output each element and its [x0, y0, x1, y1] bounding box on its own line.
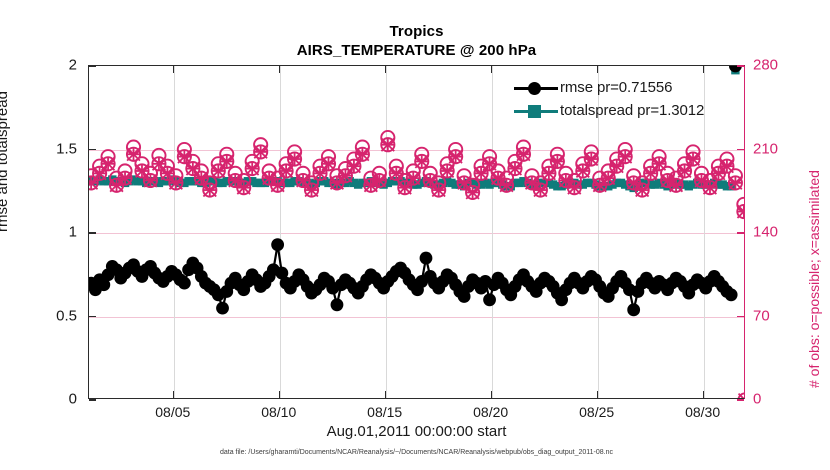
- obs-assimilated-marker: [348, 160, 361, 173]
- chart-subtitle: AIRS_TEMPERATURE @ 200 hPa: [88, 41, 745, 61]
- obs-assimilated-marker: [271, 179, 284, 192]
- obs-assimilated-marker: [305, 184, 318, 197]
- x-tick-bottom: [703, 391, 704, 398]
- rmse-marker: [627, 303, 640, 316]
- y-tick-right: [737, 232, 744, 233]
- legend-marker-totalspread: [528, 105, 541, 118]
- x-tick-label: 08/20: [473, 404, 508, 420]
- obs-assimilated-marker: [280, 165, 293, 178]
- legend-swatch-rmse: [512, 78, 560, 98]
- x-tick-top: [279, 66, 280, 73]
- obs-assimilated-marker: [466, 186, 479, 199]
- chart-title: Tropics: [88, 22, 745, 41]
- rmse-marker: [216, 302, 229, 315]
- obs-assimilated-marker: [585, 153, 598, 166]
- obs-assimilated-marker: [356, 148, 369, 161]
- legend-item-totalspread: totalspread pr=1.3012: [512, 99, 740, 122]
- obs-assimilated-marker: [288, 153, 301, 166]
- x-tick-bottom: [491, 391, 492, 398]
- y-tick-left: [89, 232, 96, 233]
- obs-assimilated-marker: [322, 157, 335, 170]
- x-tick-top: [173, 66, 174, 73]
- chart-figure: Tropics AIRS_TEMPERATURE @ 200 hPa rmse …: [0, 0, 830, 470]
- x-tick-bottom: [597, 391, 598, 398]
- y-axis-right-title: # of obs: o=possible; x=assimilated: [806, 170, 822, 388]
- y-tick-left: [89, 399, 96, 400]
- x-tick-top: [491, 66, 492, 73]
- obs-assimilated-marker: [169, 177, 182, 190]
- obs-assimilated-marker: [670, 179, 683, 192]
- y-tick-right: [737, 399, 744, 400]
- rmse-marker: [729, 66, 742, 72]
- x-tick-label: 08/25: [579, 404, 614, 420]
- x-tick-bottom: [279, 391, 280, 398]
- obs-assimilated-marker: [509, 162, 522, 175]
- obs-assimilated-marker: [526, 177, 539, 190]
- obs-assimilated-marker: [619, 150, 632, 163]
- y-tick-left: [89, 65, 96, 66]
- obs-assimilated-marker: [119, 172, 132, 185]
- y-tick-label-right: 210: [753, 140, 778, 157]
- obs-assimilated-marker: [551, 155, 564, 168]
- obs-assimilated-marker: [390, 167, 403, 180]
- rmse-marker: [271, 238, 284, 251]
- rmse-marker: [483, 293, 496, 306]
- obs-assimilated-marker: [263, 172, 276, 185]
- obs-assimilated-marker: [627, 177, 640, 190]
- obs-assimilated-marker: [721, 160, 734, 173]
- x-tick-bottom: [385, 391, 386, 398]
- x-tick-label: 08/30: [685, 404, 720, 420]
- obs-assimilated-marker: [678, 165, 691, 178]
- legend-label-rmse: rmse pr=0.71556: [560, 79, 672, 96]
- y-tick-left: [89, 149, 96, 150]
- obs-assimilated-marker: [559, 174, 572, 187]
- obs-assimilated-marker: [500, 179, 513, 192]
- obs-assimilated-marker: [729, 177, 742, 190]
- obs-assimilated-marker: [695, 174, 708, 187]
- x-tick-label: 08/15: [367, 404, 402, 420]
- obs-assimilated-marker: [246, 162, 259, 175]
- obs-assimilated-marker: [237, 181, 250, 194]
- y-tick-right: [737, 65, 744, 66]
- obs-assimilated-marker: [492, 172, 505, 185]
- obs-assimilated-marker: [576, 165, 589, 178]
- obs-assimilated-marker: [229, 174, 242, 187]
- x-tick-top: [385, 66, 386, 73]
- obs-assimilated-marker: [543, 167, 556, 180]
- y-tick-left: [89, 316, 96, 317]
- rmse-marker: [331, 298, 344, 311]
- obs-assimilated-marker: [102, 157, 115, 170]
- obs-assimilated-marker: [220, 155, 233, 168]
- obs-assimilated-marker: [203, 184, 216, 197]
- obs-assimilated-marker: [636, 184, 649, 197]
- obs-assimilated-marker: [704, 181, 717, 194]
- x-tick-top: [703, 66, 704, 73]
- obs-assimilated-marker: [712, 167, 725, 180]
- y-tick-label-left: 2: [69, 57, 77, 74]
- chart-legend: rmse pr=0.71556 totalspread pr=1.3012: [512, 76, 740, 122]
- y-tick-label-right: 140: [753, 224, 778, 241]
- obs-assimilated-marker: [449, 150, 462, 163]
- y-tick-label-left: 0.5: [56, 307, 77, 324]
- rmse-marker: [178, 277, 191, 290]
- y-tick-label-left: 0: [69, 391, 77, 408]
- obs-assimilated-marker: [653, 157, 666, 170]
- obs-assimilated-marker: [195, 172, 208, 185]
- rmse-marker: [420, 252, 433, 265]
- obs-assimilated-marker: [331, 177, 344, 190]
- obs-assimilated-marker: [254, 145, 267, 158]
- y-tick-label-right: 70: [753, 307, 770, 324]
- y-axis-left-title: rmse and totalspread: [0, 91, 11, 232]
- obs-assimilated-marker: [110, 179, 123, 192]
- obs-assimilated-marker: [407, 172, 420, 185]
- x-tick-top: [597, 66, 598, 73]
- obs-assimilated-marker: [737, 205, 744, 218]
- footer-datafile: data file: /Users/gharamti/Documents/NCA…: [88, 449, 745, 456]
- x-tick-bottom: [173, 391, 174, 398]
- obs-assimilated-marker: [568, 181, 581, 194]
- obs-assimilated-marker: [441, 165, 454, 178]
- obs-assimilated-marker: [483, 157, 496, 170]
- obs-assimilated-marker: [381, 138, 394, 151]
- chart-title-block: Tropics AIRS_TEMPERATURE @ 200 hPa: [88, 22, 745, 61]
- y-tick-label-left: 1.5: [56, 140, 77, 157]
- obs-assimilated-marker: [415, 155, 428, 168]
- y-tick-label-left: 1: [69, 224, 77, 241]
- legend-marker-rmse: [528, 82, 541, 95]
- obs-assimilated-marker: [127, 148, 140, 161]
- rmse-marker: [725, 288, 738, 301]
- legend-label-totalspread: totalspread pr=1.3012: [560, 102, 704, 119]
- obs-assimilated-marker: [432, 184, 445, 197]
- obs-assimilated-marker: [144, 174, 157, 187]
- x-tick-label: 08/05: [155, 404, 190, 420]
- obs-assimilated-marker: [373, 174, 386, 187]
- legend-swatch-totalspread: [512, 101, 560, 121]
- legend-item-rmse: rmse pr=0.71556: [512, 76, 740, 99]
- obs-assimilated-marker: [178, 150, 191, 163]
- obs-assimilated-marker: [517, 148, 530, 161]
- y-tick-right: [737, 316, 744, 317]
- x-tick-label: 08/10: [261, 404, 296, 420]
- obs-assimilated-marker: [593, 179, 606, 192]
- obs-assimilated-marker: [687, 153, 700, 166]
- x-axis-title: Aug.01,2011 00:00:00 start: [88, 423, 745, 440]
- obs-assimilated-marker: [534, 184, 547, 197]
- obs-assimilated-marker: [602, 172, 615, 185]
- y-tick-label-right: 0: [753, 391, 761, 408]
- y-tick-right: [737, 149, 744, 150]
- y-tick-label-right: 280: [753, 57, 778, 74]
